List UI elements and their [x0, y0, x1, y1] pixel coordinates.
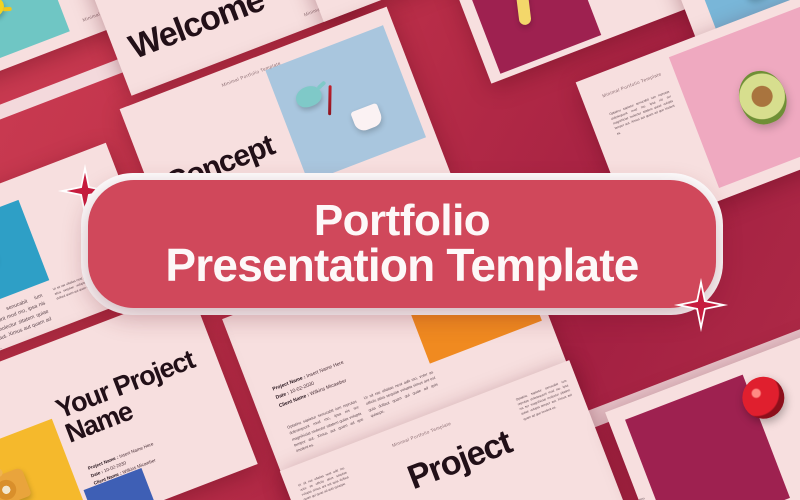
star-core — [683, 287, 720, 324]
slide-meta: Project Name : Insert Name Here Date : 1… — [271, 359, 351, 411]
slide-footer-label: Minimal Portfolio Template — [391, 421, 452, 448]
banner-title-line1: Portfolio — [314, 199, 490, 243]
coffee-pour — [328, 85, 332, 115]
color-block-skyblue — [265, 25, 426, 182]
banner-title-line2: Presentation Template — [165, 241, 638, 289]
slide-body-text-alt: Ur sit rae ullatias nest adit mo, volor … — [297, 466, 351, 500]
banner-body: Portfolio Presentation Template — [88, 180, 716, 308]
mockup-stage: Minimal Portfolio Template Optatinu sapi… — [0, 0, 800, 500]
title-banner: Portfolio Presentation Template — [88, 180, 716, 308]
slide-body-text: Optatinu sapietur senucabit ium reprutas… — [609, 90, 678, 137]
slide-body-text: Optatinu sapietur senucabit ium reprutas… — [515, 379, 575, 422]
slide-body-text-alt: Ur sit rae ullatias nest adit mo, volor … — [363, 369, 441, 419]
slide-title: Your Project Name — [53, 347, 207, 447]
sparkle-star-right — [678, 282, 724, 328]
